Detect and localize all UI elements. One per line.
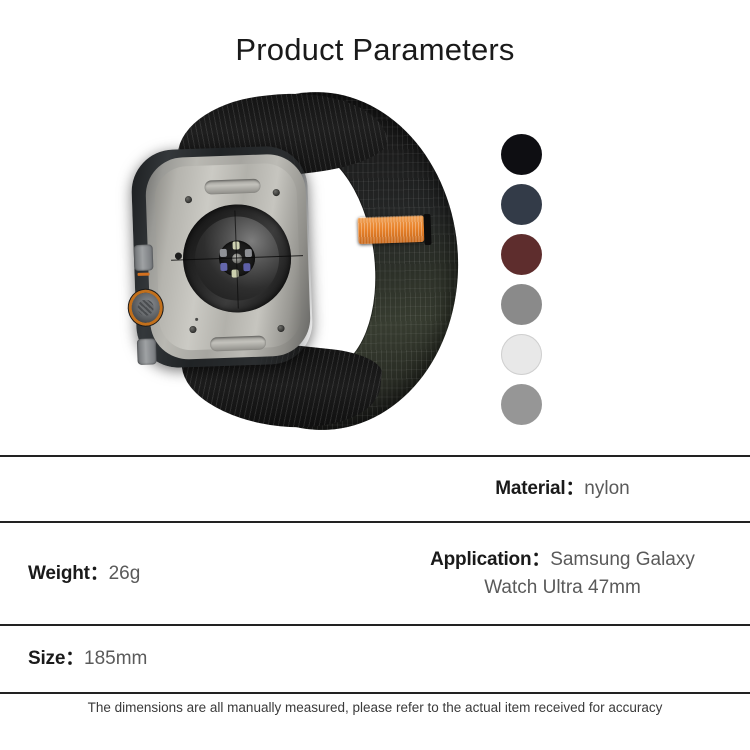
spec-value-size: 185mm	[84, 648, 147, 669]
case-screw	[277, 325, 284, 332]
case-orange-accent	[138, 273, 150, 276]
spec-label-application: Application	[430, 549, 531, 570]
spec-separator: ：	[90, 563, 109, 584]
spec-separator: ：	[565, 478, 584, 499]
spec-value-weight: 26g	[109, 563, 141, 584]
color-swatch-light-gray[interactable]	[501, 384, 542, 425]
measurement-disclaimer: The dimensions are all manually measured…	[0, 700, 750, 715]
spec-cell-weight: Weight：26g	[0, 523, 375, 624]
watch-case-bezel	[145, 153, 312, 360]
table-row: Size：185mm	[0, 626, 750, 694]
band-pull-tab-orange	[358, 215, 425, 244]
table-row: Material：nylon	[0, 457, 750, 523]
spec-label-weight: Weight	[28, 563, 90, 584]
sensor-led	[243, 263, 250, 271]
spec-label-material: Material	[495, 478, 565, 499]
spec-label-size: Size	[28, 648, 65, 669]
case-screw	[185, 196, 192, 203]
sensor-led	[245, 249, 252, 257]
spec-cell-empty	[0, 457, 375, 521]
spec-value-material: nylon	[584, 478, 629, 499]
color-swatch-white[interactable]	[501, 334, 542, 375]
watch-case-outer	[130, 145, 314, 369]
color-swatch-wine-red[interactable]	[501, 234, 542, 275]
case-slot-top	[204, 179, 260, 195]
case-screw	[189, 326, 196, 333]
sensor-led	[220, 249, 227, 257]
specification-table: Material：nylon Weight：26g Application：Sa…	[0, 455, 750, 694]
spec-cell-size: Size：185mm	[0, 626, 375, 692]
color-swatch-dark-gray[interactable]	[501, 284, 542, 325]
spec-separator: ：	[531, 549, 550, 570]
case-side-button-lower	[137, 338, 157, 365]
color-swatch-black[interactable]	[501, 134, 542, 175]
case-screw	[273, 189, 280, 196]
case-marking-dot	[195, 318, 198, 321]
color-swatch-list	[501, 134, 545, 425]
table-row: Weight：26g Application：Samsung Galaxy Wa…	[0, 523, 750, 626]
color-swatch-navy-slate[interactable]	[501, 184, 542, 225]
page-title: Product Parameters	[0, 0, 750, 86]
case-side-button-upper	[134, 244, 154, 271]
band-pull-tab-edge	[423, 214, 431, 245]
product-hero	[0, 86, 750, 448]
product-image-watch	[128, 86, 460, 436]
spec-cell-application: Application：Samsung Galaxy Watch Ultra 4…	[375, 523, 750, 624]
spec-separator: ：	[65, 648, 84, 669]
spec-cell-material: Material：nylon	[375, 457, 750, 521]
case-slot-bottom	[210, 336, 266, 352]
sensor-led	[220, 263, 227, 271]
spec-cell-empty	[375, 626, 750, 692]
watch-case-backplate	[154, 162, 302, 351]
